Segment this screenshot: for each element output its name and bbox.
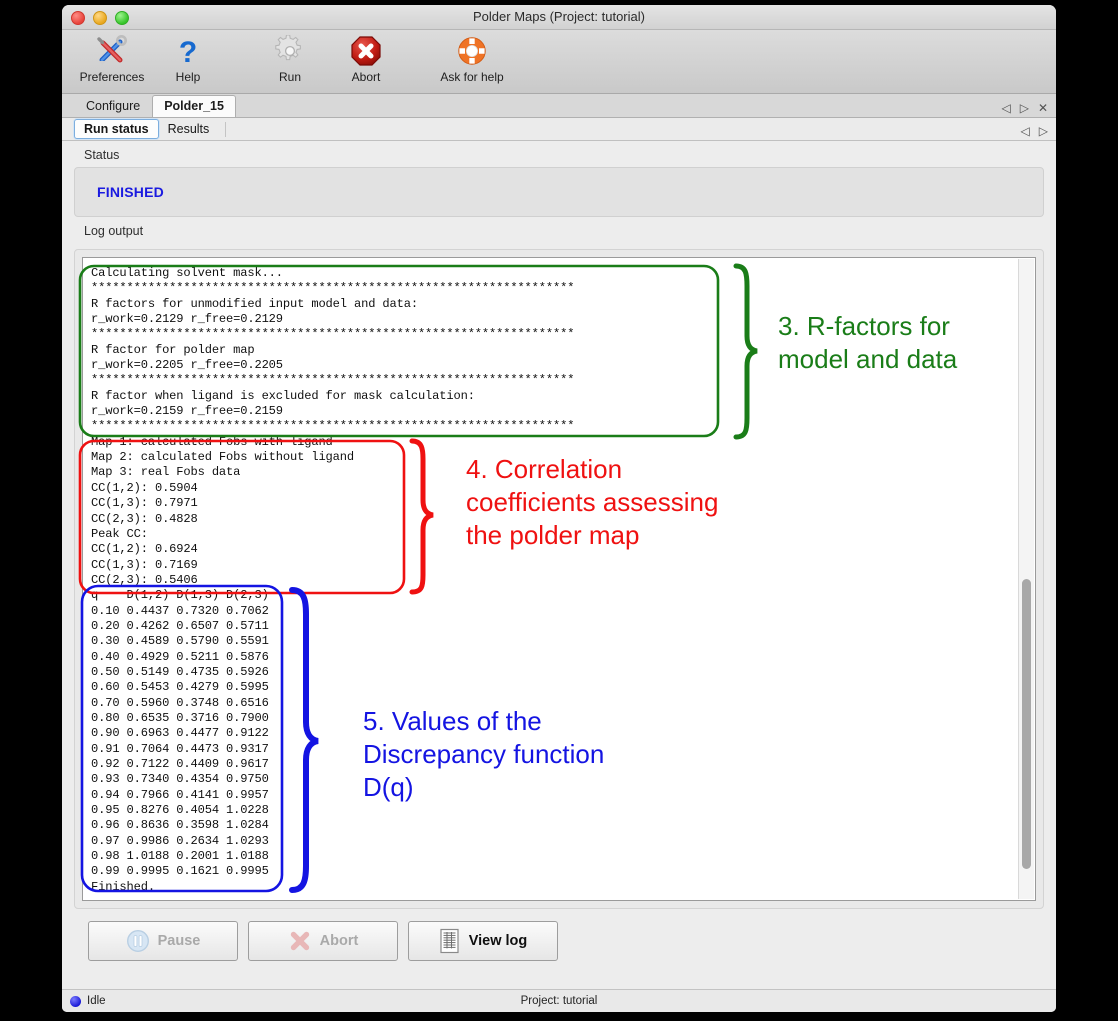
toolbar-button-ask-for-help[interactable]: Ask for help — [434, 30, 510, 84]
toolbar-label-abort: Abort — [328, 70, 404, 84]
toolbar-label-run: Run — [252, 70, 328, 84]
pause-icon — [126, 929, 150, 953]
window-title: Polder Maps (Project: tutorial) — [62, 9, 1056, 24]
tab-configure[interactable]: Configure — [74, 95, 152, 117]
pause-button[interactable]: Pause — [88, 921, 238, 961]
main-toolbar: Preferences ? Help — [62, 30, 1056, 94]
status-bar-project: Project: tutorial — [62, 995, 1056, 1007]
status-value: FINISHED — [97, 184, 164, 200]
status-section-label: Status — [74, 141, 1044, 167]
outer-tab-nav: ◁ ▷ ✕ — [1001, 102, 1048, 114]
x-cross-icon — [288, 929, 312, 953]
toolbar-button-preferences[interactable]: Preferences — [74, 30, 150, 84]
run-status-panel: Status FINISHED Log output Calculating s… — [62, 141, 1056, 981]
toolbar-button-run[interactable]: Run — [252, 30, 328, 84]
view-log-button-label: View log — [469, 933, 528, 949]
log-output-frame: Calculating solvent mask... ************… — [74, 249, 1044, 909]
status-bar: Idle Project: tutorial — [62, 989, 1056, 1012]
screen: Polder Maps (Project: tutorial) — [0, 0, 1118, 1021]
action-button-bar: Pause Abort — [74, 909, 1044, 961]
abort-button[interactable]: Abort — [248, 921, 398, 961]
outer-tab-next-icon[interactable]: ▷ — [1020, 102, 1029, 114]
tab-run-status[interactable]: Run status — [74, 119, 159, 139]
outer-tab-strip: Configure Polder_15 ◁ ▷ ✕ — [62, 94, 1056, 118]
log-output-view[interactable]: Calculating solvent mask... ************… — [82, 257, 1036, 901]
log-scrollbar[interactable] — [1018, 259, 1034, 899]
toolbar-label-ask-for-help: Ask for help — [426, 70, 518, 84]
abort-button-label: Abort — [320, 933, 359, 949]
application-window: Polder Maps (Project: tutorial) — [62, 5, 1056, 1012]
title-bar: Polder Maps (Project: tutorial) — [62, 5, 1056, 30]
tab-results[interactable]: Results — [159, 120, 219, 138]
pause-button-label: Pause — [158, 933, 201, 949]
stop-octagon-x-icon — [328, 34, 404, 68]
view-log-button[interactable]: View log — [408, 921, 558, 961]
outer-tab-close-icon[interactable]: ✕ — [1038, 102, 1048, 114]
life-ring-icon — [434, 34, 510, 68]
question-mark-icon: ? — [150, 34, 226, 68]
tab-polder-15[interactable]: Polder_15 — [152, 95, 236, 117]
document-lines-icon — [439, 928, 461, 954]
inner-tab-next-icon[interactable]: ▷ — [1039, 125, 1048, 137]
log-scrollbar-thumb[interactable] — [1022, 579, 1031, 869]
gear-icon — [252, 34, 328, 68]
tools-icon — [74, 34, 150, 68]
tab-separator — [225, 122, 226, 137]
toolbar-button-abort[interactable]: Abort — [328, 30, 404, 84]
toolbar-label-help: Help — [150, 70, 226, 84]
inner-tab-nav: ◁ ▷ — [1021, 125, 1048, 137]
inner-tab-strip: Run status Results ◁ ▷ — [62, 118, 1056, 141]
inner-tab-prev-icon[interactable]: ◁ — [1021, 125, 1030, 137]
toolbar-button-help[interactable]: ? Help — [150, 30, 226, 84]
toolbar-label-preferences: Preferences — [74, 70, 150, 84]
log-output-text: Calculating solvent mask... ************… — [91, 266, 1011, 895]
status-panel: FINISHED — [74, 167, 1044, 217]
log-section-label: Log output — [74, 217, 1044, 243]
svg-text:?: ? — [179, 36, 197, 67]
outer-tab-prev-icon[interactable]: ◁ — [1001, 102, 1010, 114]
